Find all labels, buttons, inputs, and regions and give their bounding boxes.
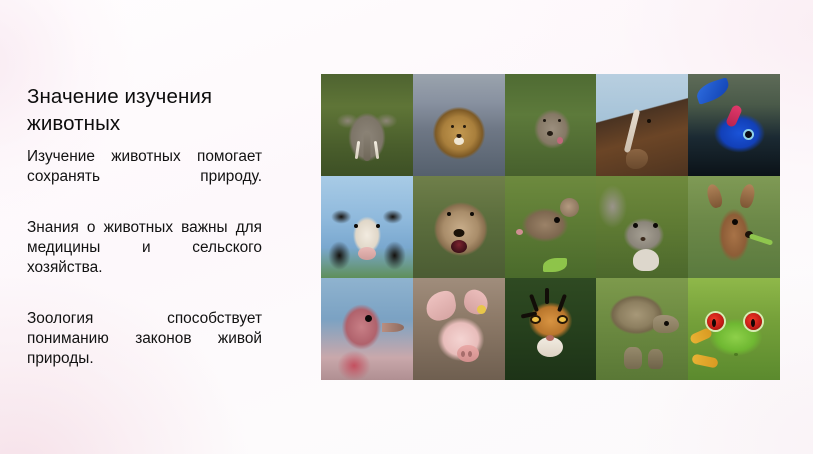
photo-cell-frog [688, 278, 780, 380]
animal-photo-grid [321, 74, 780, 380]
body-paragraph-3: Зоология способствует пониманию законов … [27, 309, 262, 389]
photo-cell-dog [505, 74, 597, 176]
photo-cell-horse [596, 74, 688, 176]
photo-cell-fish [688, 74, 780, 176]
photo-cell-turkey [321, 278, 413, 380]
body-paragraph-2: Знания о животных важны для медицины и с… [27, 218, 262, 298]
text-content-block: Значение изучения животных Изучение живо… [27, 84, 262, 389]
photo-cell-lion [413, 74, 505, 176]
photo-cell-deer [688, 176, 780, 278]
photo-cell-elephant [321, 74, 413, 176]
photo-cell-tiger [505, 278, 597, 380]
photo-cell-pig [413, 278, 505, 380]
page-title: Значение изучения животных [27, 84, 262, 137]
body-paragraph-1: Изучение животных помогает сохранять при… [27, 147, 262, 207]
photo-cell-cow [321, 176, 413, 278]
photo-cell-mouse [505, 176, 597, 278]
photo-cell-bear [413, 176, 505, 278]
photo-cell-squirrel [596, 176, 688, 278]
slide-canvas: Значение изучения животных Изучение живо… [0, 0, 813, 454]
photo-cell-tortoise [596, 278, 688, 380]
